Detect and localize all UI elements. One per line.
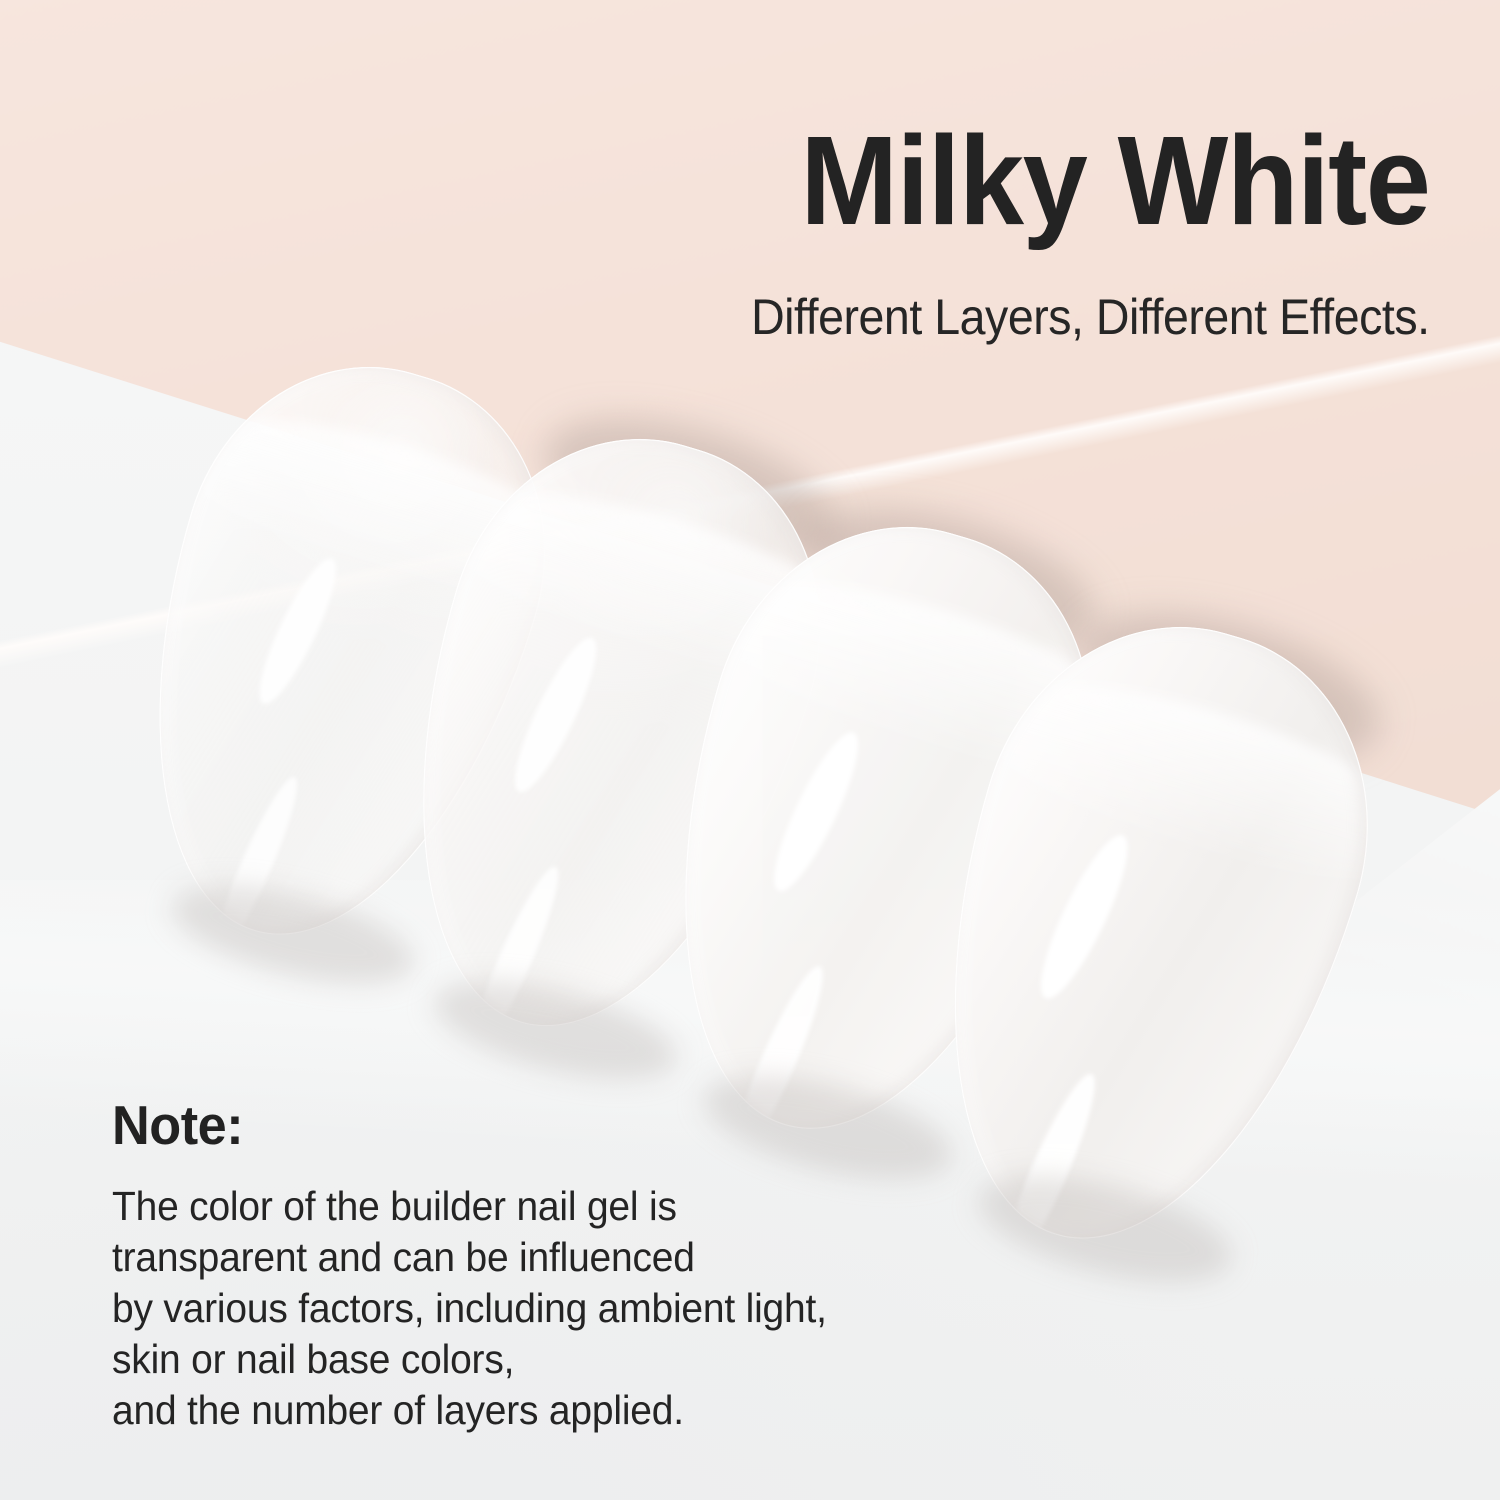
note-line: skin or nail base colors, bbox=[112, 1334, 967, 1385]
note-block: Note: The color of the builder nail gel … bbox=[112, 1098, 1012, 1436]
note-line: The color of the builder nail gel is bbox=[112, 1181, 967, 1232]
note-line: transparent and can be influenced bbox=[112, 1232, 967, 1283]
note-line: and the number of layers applied. bbox=[112, 1385, 967, 1436]
product-banner: Milky White Different Layers, Different … bbox=[0, 0, 1500, 1500]
note-line: by various factors, including ambient li… bbox=[112, 1283, 967, 1334]
page-title: Milky White bbox=[801, 118, 1430, 244]
note-body: The color of the builder nail gel is tra… bbox=[112, 1181, 1012, 1436]
page-subtitle: Different Layers, Different Effects. bbox=[751, 292, 1430, 342]
note-heading: Note: bbox=[112, 1098, 967, 1153]
